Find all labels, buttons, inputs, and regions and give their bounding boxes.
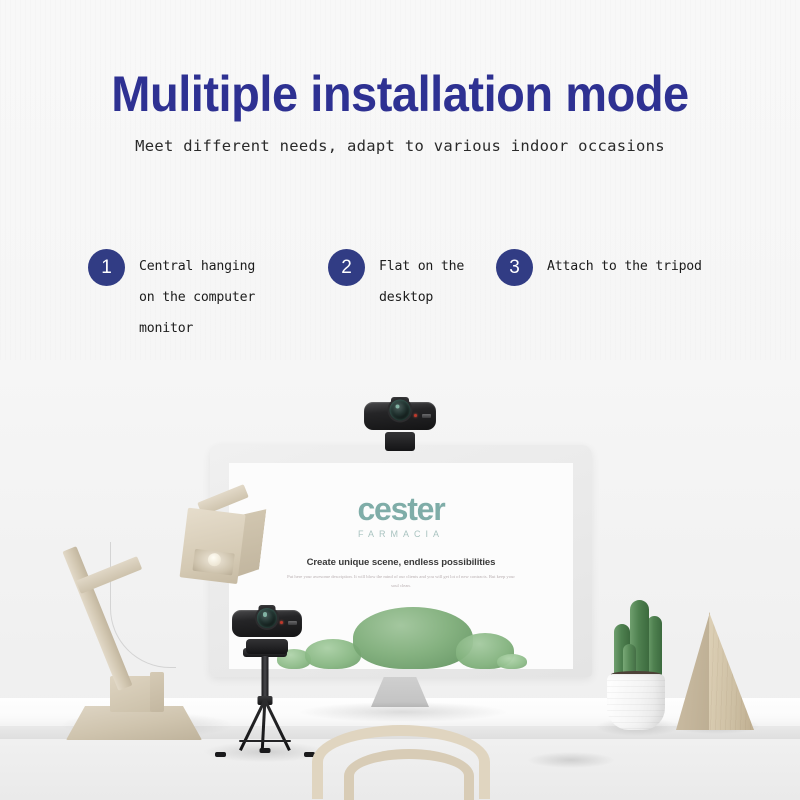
- page-subtitle: Meet different needs, adapt to various i…: [0, 137, 800, 155]
- step-item-2: 2 Flat on the desktop: [328, 248, 503, 313]
- installation-steps: 1 Central hanging on the computer monito…: [0, 248, 800, 358]
- step-label-1: Central hanging on the computer monitor: [139, 248, 255, 344]
- tree-main: [353, 607, 473, 669]
- webcam-tripod-mount: [246, 639, 288, 654]
- microphone-icon: [288, 621, 297, 625]
- page-title: Mulitiple installation mode: [24, 68, 776, 121]
- wood-triangle-decor: [676, 612, 754, 730]
- screen-logo: cester: [229, 491, 573, 528]
- screen-logo-subtitle: FARMACIA: [229, 529, 573, 539]
- product-feature-page: Mulitiple installation mode Meet differe…: [0, 0, 800, 800]
- step-badge-2: 2: [328, 249, 365, 286]
- triangle-right-face: [709, 612, 754, 730]
- camera-lens-icon: [390, 399, 411, 420]
- webcam-on-monitor: [364, 402, 436, 452]
- cactus-stem: [647, 616, 662, 676]
- microphone-icon: [422, 414, 431, 418]
- product-scene: cester FARMACIA Create unique scene, end…: [0, 360, 800, 800]
- step-label-3: Attach to the tripod: [547, 248, 702, 282]
- tree-shrub-far-right: [497, 654, 527, 669]
- step-badge-3: 3: [496, 249, 533, 286]
- cactus-plant: [600, 590, 672, 730]
- tripod-foot: [215, 752, 226, 757]
- desk-webcam-shadow: [528, 752, 614, 768]
- step-item-1: 1 Central hanging on the computer monito…: [88, 248, 298, 344]
- webcam-on-tripod: [232, 610, 302, 658]
- lamp-cord: [110, 542, 176, 668]
- arch-inner-ring: [344, 749, 474, 800]
- monitor-shadow: [300, 702, 506, 722]
- screen-tagline: Create unique scene, endless possibiliti…: [229, 557, 573, 568]
- step-label-2: Flat on the desktop: [379, 248, 464, 313]
- wood-arch-decor: [300, 725, 498, 800]
- webcam-monitor-body: [364, 402, 436, 430]
- tripod-leg: [264, 699, 291, 751]
- webcam-monitor-clip-foot: [385, 432, 415, 451]
- recording-led-icon: [414, 414, 417, 417]
- step-item-3: 3 Attach to the tripod: [496, 248, 766, 286]
- header: Mulitiple installation mode Meet differe…: [0, 0, 800, 155]
- webcam-tripod-body: [232, 610, 302, 637]
- triangle-left-face: [676, 612, 710, 730]
- camera-lens-icon: [257, 608, 277, 628]
- lamp-joint-block-side: [150, 672, 164, 712]
- tripod-foot: [260, 748, 271, 753]
- screen-body-text: Put here your awesome description. It wi…: [287, 573, 515, 590]
- recording-led-icon: [280, 621, 283, 624]
- tripod-column: [262, 656, 269, 700]
- step-badge-1: 1: [88, 249, 125, 286]
- cactus-pot: [607, 674, 665, 730]
- lamp-shade: [180, 500, 265, 587]
